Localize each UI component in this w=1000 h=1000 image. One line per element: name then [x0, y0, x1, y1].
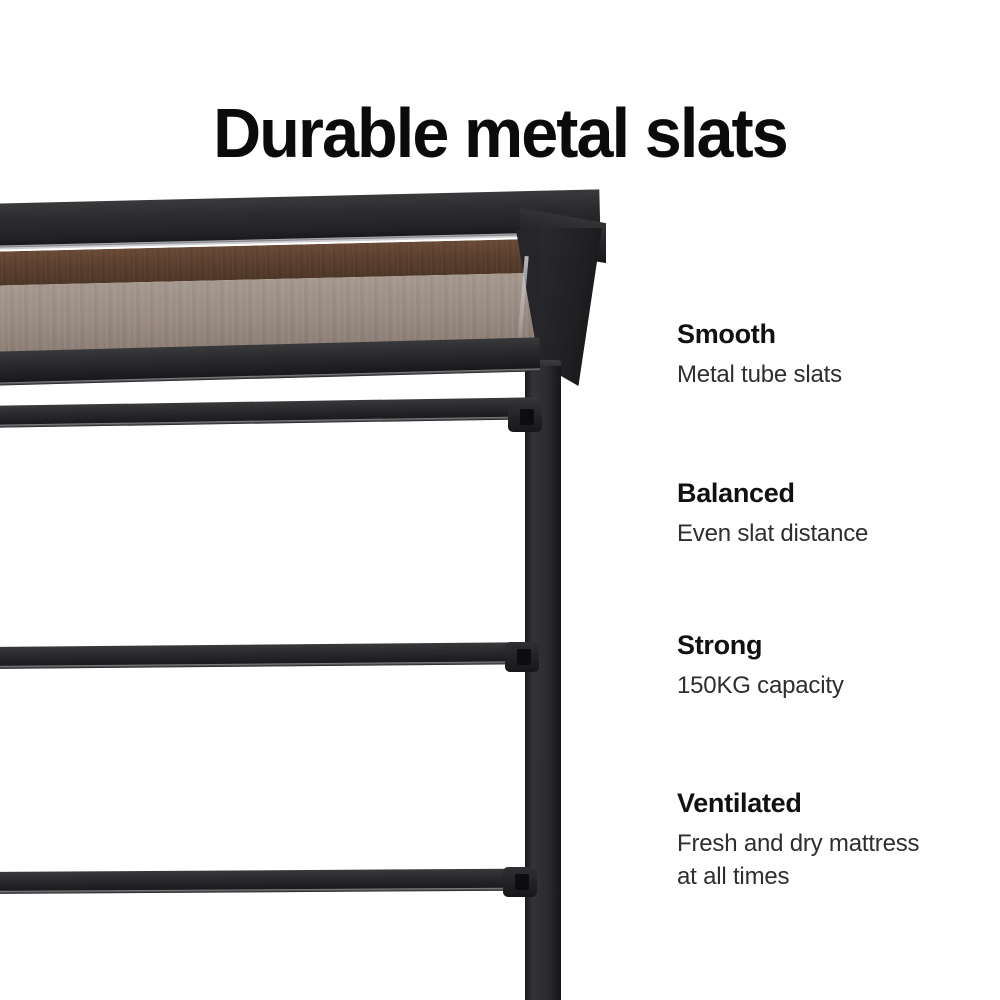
slat-bracket-notch — [520, 409, 534, 425]
feature-description: 150KG capacity — [677, 669, 977, 702]
slat-bracket-notch — [515, 874, 529, 890]
metal-slat — [0, 642, 532, 669]
product-photo — [0, 170, 640, 1000]
metal-slat — [0, 869, 530, 894]
feature-title: Smooth — [677, 318, 977, 350]
vertical-post — [525, 366, 561, 1000]
metal-slat — [0, 397, 538, 428]
feature-description: Metal tube slats — [677, 358, 977, 391]
page-title: Durable metal slats — [25, 95, 975, 171]
feature-title: Ventilated — [677, 787, 977, 819]
feature-item-ventilated: Ventilated Fresh and dry mattress at all… — [677, 787, 977, 893]
feature-title: Balanced — [677, 477, 977, 509]
infographic-page: Durable metal slats Smooth Metal tube sl… — [0, 0, 1000, 1000]
feature-title: Strong — [677, 629, 977, 661]
feature-item-balanced: Balanced Even slat distance — [677, 477, 977, 550]
feature-description: Even slat distance — [677, 517, 977, 550]
feature-item-smooth: Smooth Metal tube slats — [677, 318, 977, 391]
feature-description: Fresh and dry mattress at all times — [677, 827, 977, 893]
feature-item-strong: Strong 150KG capacity — [677, 629, 977, 702]
slat-bracket-notch — [517, 649, 531, 665]
